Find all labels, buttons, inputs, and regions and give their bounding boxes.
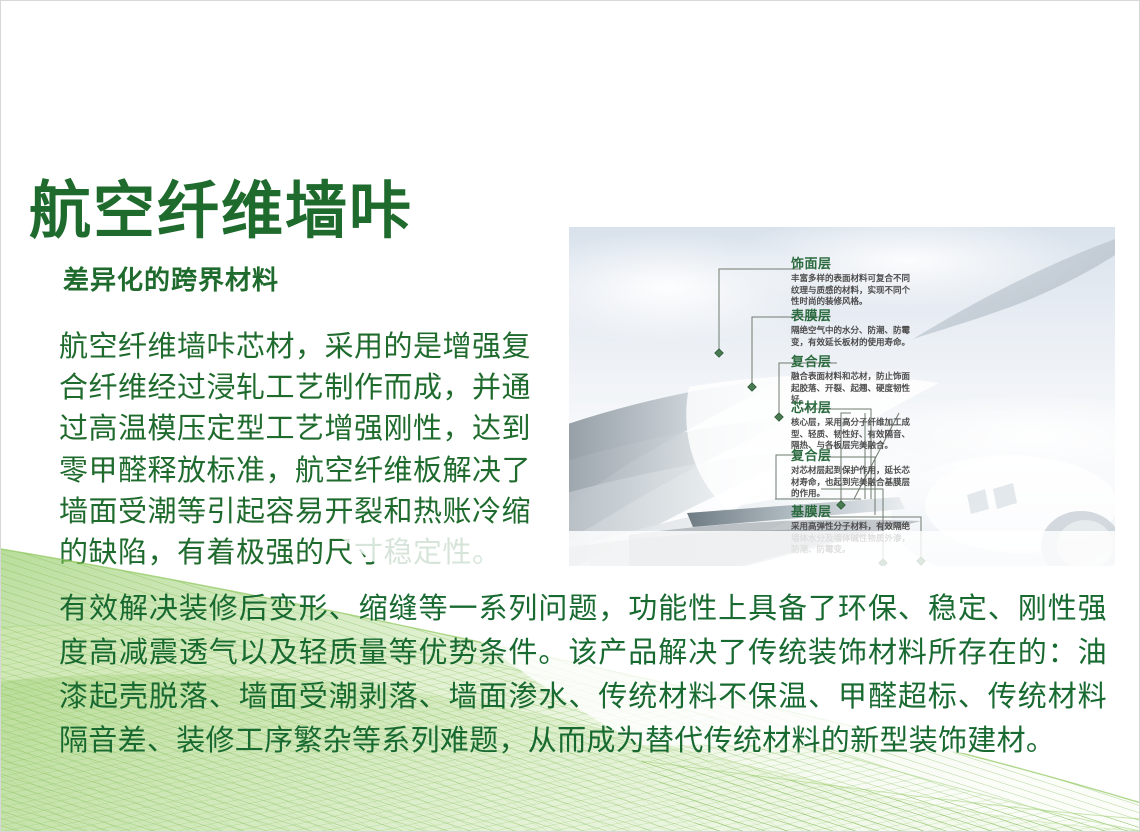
callout-title: 基膜层	[791, 505, 913, 519]
callout-title: 复合层	[791, 355, 913, 369]
callout-item: 饰面层 丰富多样的表面材料可复合不同纹理与质感的材料，实现不同个性时尚的装修风格…	[791, 257, 913, 308]
body-paragraph: 有效解决装修后变形、缩缝等一系列问题，功能性上具备了环保、稳定、刚性强度高减震透…	[59, 587, 1107, 763]
callout-item: 基膜层 采用高弹性分子材料，有效隔绝墙体水分及墙体碱性物质外渗，防潮、防霉变。	[791, 505, 913, 556]
headline-block: 航空纤维墙咔 差异化的跨界材料	[29, 179, 559, 297]
callout-title: 芯材层	[791, 401, 913, 415]
callout-desc: 核心层，采用高分子纤维加工成型、轻质、韧性好、有效隔音、隔热、与各板层完美融合。	[791, 417, 913, 451]
poster-canvas: 饰面层 丰富多样的表面材料可复合不同纹理与质感的材料，实现不同个性时尚的装修风格…	[0, 0, 1140, 832]
callout-title: 饰面层	[791, 257, 913, 271]
product-photo: 饰面层 丰富多样的表面材料可复合不同纹理与质感的材料，实现不同个性时尚的装修风格…	[569, 227, 1115, 566]
callout-desc: 丰富多样的表面材料可复合不同纹理与质感的材料，实现不同个性时尚的装修风格。	[791, 273, 913, 307]
callout-desc: 对芯材层起到保护作用，延长芯材寿命，也起到完美融合基膜层的作用。	[791, 465, 913, 499]
page-title: 航空纤维墙咔	[29, 179, 559, 246]
callout-desc: 采用高弹性分子材料，有效隔绝墙体水分及墙体碱性物质外渗，防潮、防霉变。	[791, 521, 913, 555]
callout-title: 表膜层	[791, 309, 913, 323]
callout-item: 芯材层 核心层，采用高分子纤维加工成型、轻质、韧性好、有效隔音、隔热、与各板层完…	[791, 401, 913, 452]
lead-paragraph: 航空纤维墙咔芯材，采用的是增强复合纤维经过浸轧工艺制作而成，并通过高温模压定型工…	[59, 327, 559, 574]
callout-item: 复合层 对芯材层起到保护作用，延长芯材寿命，也起到完美融合基膜层的作用。	[791, 449, 913, 500]
callout-item: 表膜层 隔绝空气中的水分、防潮、防霉变，有效延长板材的使用寿命。	[791, 309, 913, 348]
callout-list: 饰面层 丰富多样的表面材料可复合不同纹理与质感的材料，实现不同个性时尚的装修风格…	[569, 227, 1115, 566]
page-subtitle: 差异化的跨界材料	[63, 260, 559, 297]
callout-item: 复合层 融合表面材料和芯材，防止饰面起胶落、开裂、起翘、硬度韧性好。	[791, 355, 913, 406]
callout-title: 复合层	[791, 449, 913, 463]
callout-desc: 隔绝空气中的水分、防潮、防霉变，有效延长板材的使用寿命。	[791, 325, 913, 348]
